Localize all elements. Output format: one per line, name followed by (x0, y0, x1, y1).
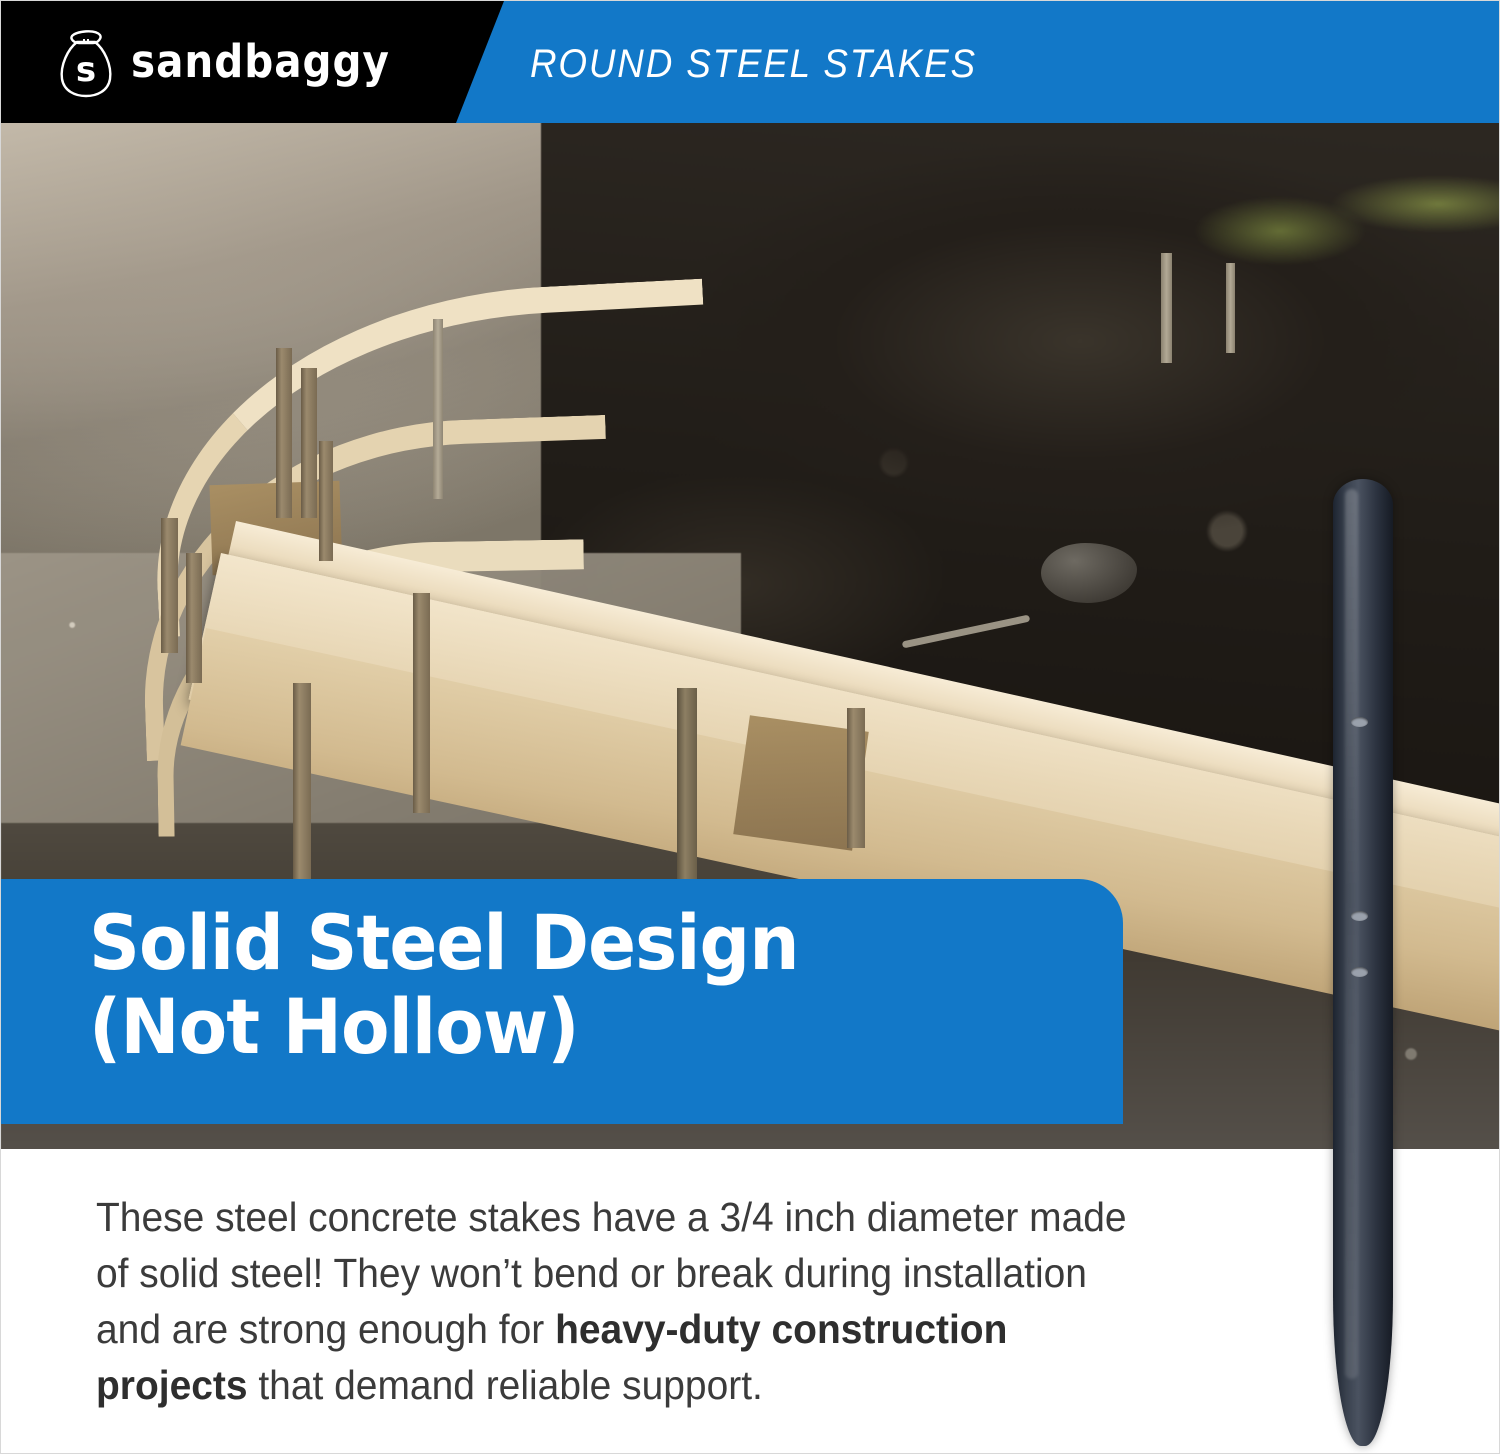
photo-stake (1226, 263, 1235, 353)
brand-name: SANDBAGGY (131, 25, 390, 99)
photo-stake (319, 441, 333, 561)
stake-hole (1351, 717, 1368, 727)
stake-highlight (1345, 489, 1358, 1379)
sandbag-icon: s (55, 25, 117, 99)
body-paragraph: These steel concrete stakes have a 3/4 i… (96, 1189, 1132, 1413)
headline-line-1: Solid Steel Design (89, 898, 799, 987)
body-text-part2: that demand reliable support. (248, 1362, 763, 1408)
photo-stake (413, 593, 430, 813)
stake-hole (1351, 967, 1368, 977)
infographic-page: s SANDBAGGY ROUND STEEL STAKES (0, 0, 1500, 1454)
photo-stake (847, 708, 865, 848)
photo-stake (161, 518, 178, 653)
header-bar: s SANDBAGGY ROUND STEEL STAKES (1, 1, 1500, 123)
photo-stake (433, 319, 443, 499)
headline-text: Solid Steel Design (Not Hollow) (89, 901, 1019, 1069)
stake-hole (1351, 911, 1368, 921)
header-tagline: ROUND STEEL STAKES (530, 41, 977, 87)
brand-logo[interactable]: s SANDBAGGY (55, 25, 390, 99)
photo-stake (276, 348, 292, 518)
photo-stake (301, 368, 317, 518)
headline-line-2: (Not Hollow) (89, 985, 1019, 1069)
round-steel-stake-product (1333, 479, 1393, 1446)
photo-stake (1161, 253, 1172, 363)
photo-stake (186, 553, 202, 683)
svg-text:s: s (76, 50, 96, 90)
headline-banner: Solid Steel Design (Not Hollow) (1, 879, 1123, 1124)
